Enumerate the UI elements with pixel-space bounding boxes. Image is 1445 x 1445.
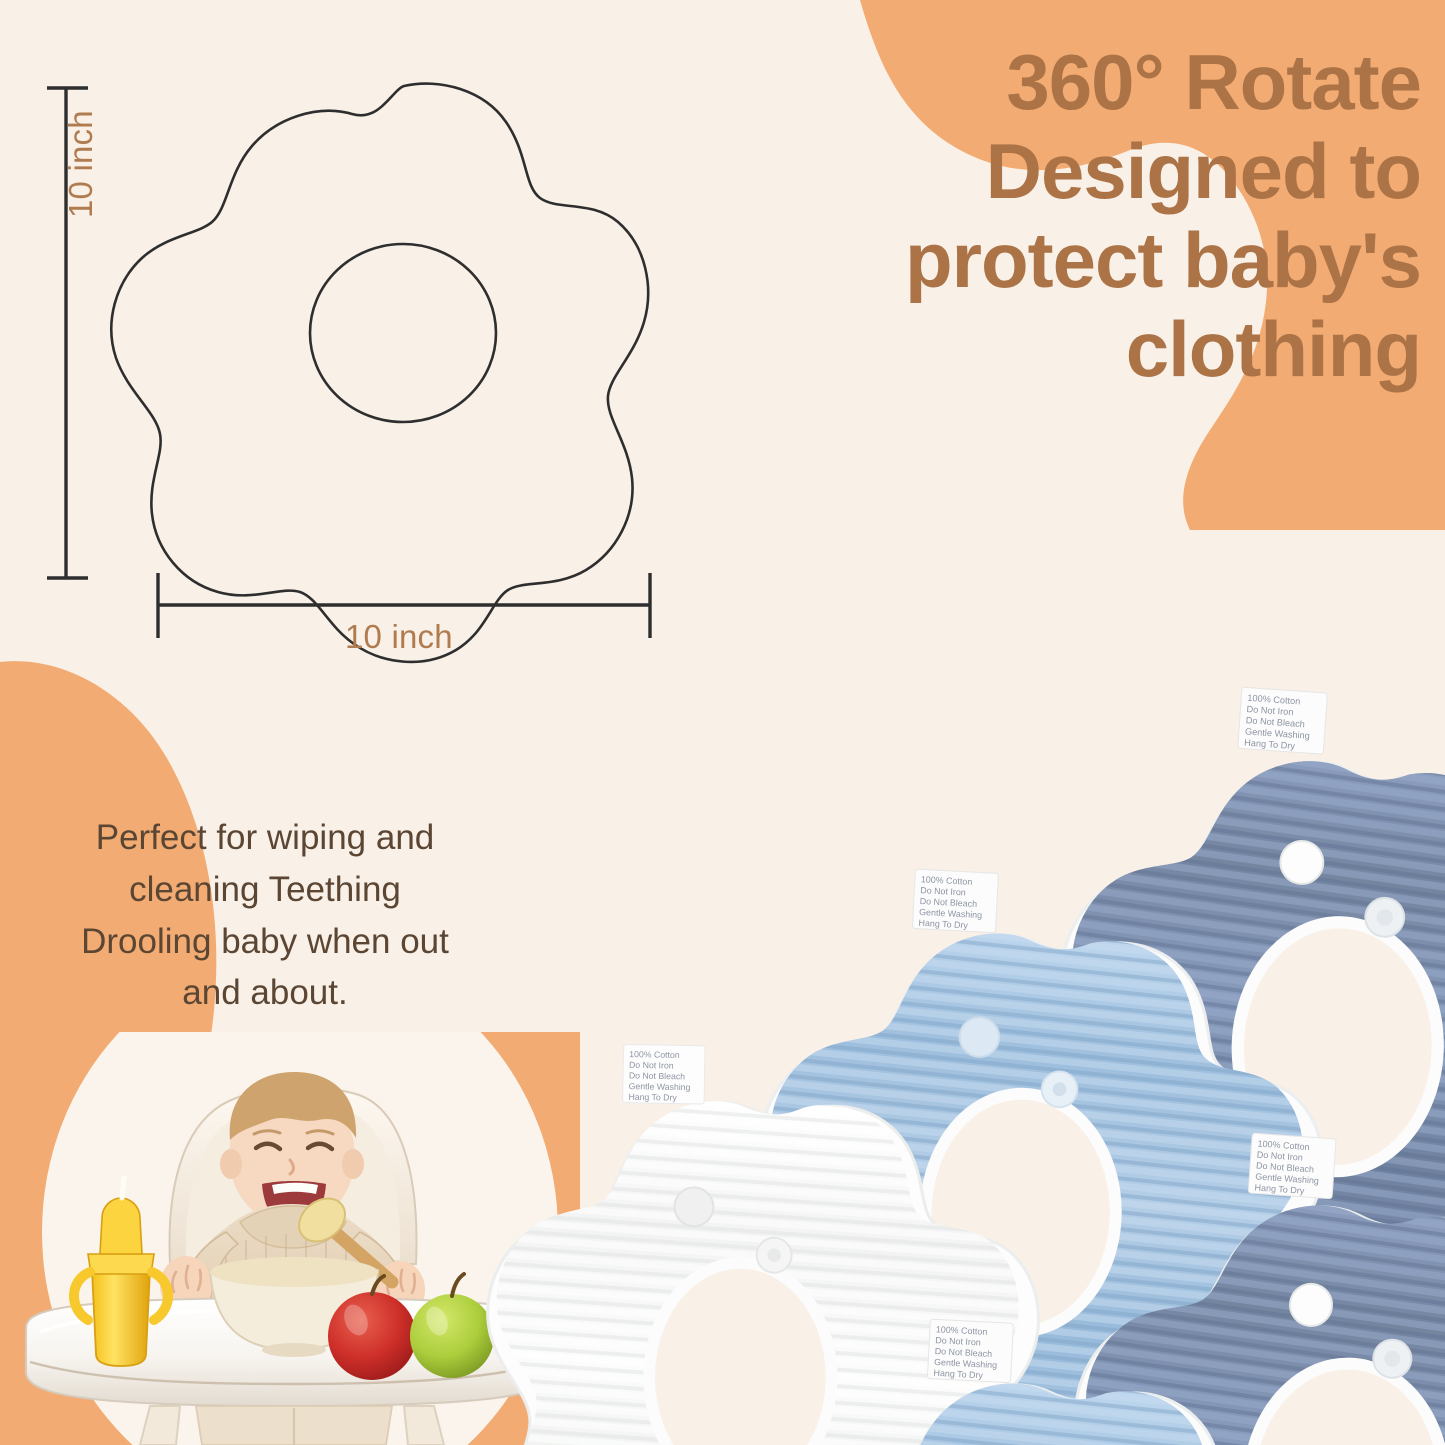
sippy-cup-body: [92, 1270, 150, 1366]
bib-5-care-label: 100% Cotton Do Not Iron Do Not Bleach Ge…: [927, 1319, 1013, 1383]
blurb-line-4: and about.: [10, 967, 520, 1019]
bib-1-label-line-5: Hang To Dry: [628, 1092, 677, 1103]
bib-1-label-line-2: Do Not Iron: [629, 1060, 674, 1071]
bib-6-care-label: 100% Cotton Do Not Iron Do Not Bleach Ge…: [1248, 1133, 1336, 1199]
width-dimension-label: 10 inch: [345, 618, 453, 656]
baby-ear-right: [342, 1149, 364, 1179]
headline-line-4: clothing: [761, 305, 1421, 394]
bib-cluster-svg: 100% Cotton Do Not Iron Do Not Bleach Ge…: [470, 480, 1445, 1445]
sippy-cup-straw: [122, 1178, 124, 1198]
blurb-line-1: Perfect for wiping and: [10, 812, 520, 864]
sippy-cup-collar: [88, 1254, 154, 1274]
bib-2-care-label: 100% Cotton Do Not Iron Do Not Bleach Ge…: [912, 869, 998, 933]
height-dimension-label: 10 inch: [62, 110, 100, 218]
baby-ear-left: [220, 1149, 242, 1179]
infographic-canvas: 10 inch 10 inch 360° Rotate Designed to …: [0, 0, 1445, 1445]
bib-1-label-line-3: Do Not Bleach: [629, 1070, 686, 1081]
blurb-line-2: cleaning Teething: [10, 864, 520, 916]
bib-product-cluster: 100% Cotton Do Not Iron Do Not Bleach Ge…: [470, 480, 1445, 1445]
headline-line-2: Designed to: [761, 127, 1421, 216]
blurb-line-3: Drooling baby when out: [10, 916, 520, 968]
bib-3-care-label: 100% Cotton Do Not Iron Do Not Bleach Ge…: [1238, 687, 1328, 754]
bib-1-label-line-1: 100% Cotton: [629, 1049, 680, 1060]
neck-hole-outline: [310, 244, 496, 422]
sippy-cup-lid: [100, 1198, 142, 1254]
bib-1-label-line-4: Gentle Washing: [629, 1081, 691, 1092]
headline-line-1: 360° Rotate: [761, 38, 1421, 127]
page-headline: 360° Rotate Designed to protect baby's c…: [761, 38, 1421, 394]
bowl-foot: [262, 1343, 326, 1357]
headline-line-3: protect baby's: [761, 216, 1421, 305]
feature-description: Perfect for wiping and cleaning Teething…: [10, 812, 520, 1019]
bowl-food: [210, 1257, 378, 1287]
bib-1-care-label: 100% Cotton Do Not Iron Do Not Bleach Ge…: [623, 1044, 705, 1104]
